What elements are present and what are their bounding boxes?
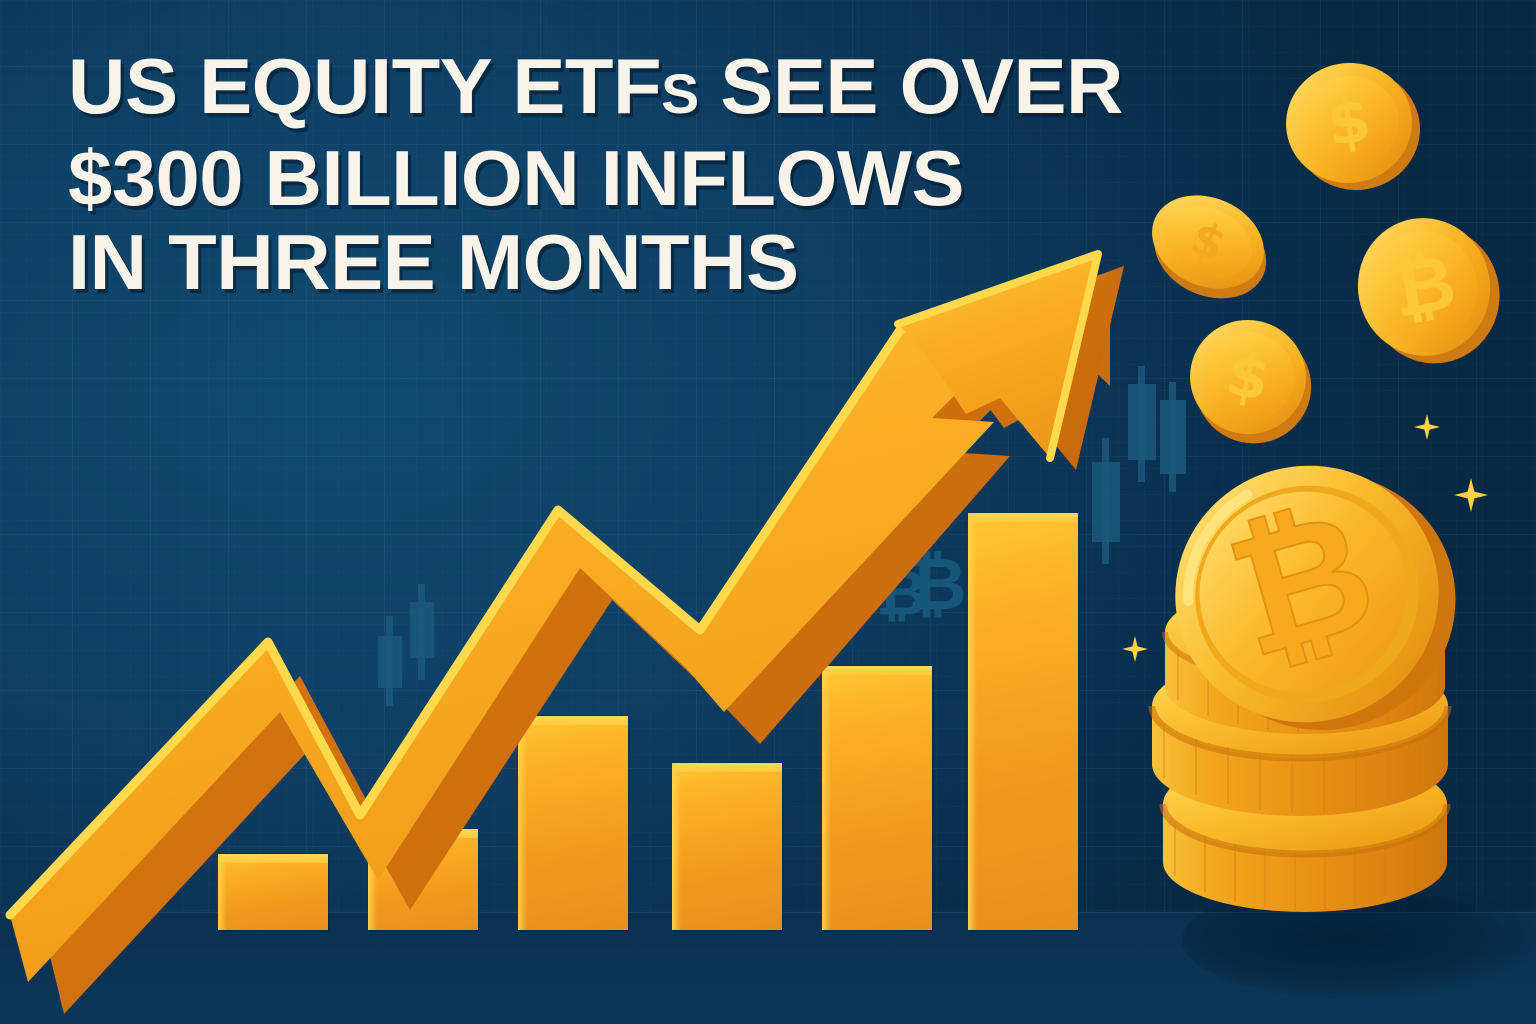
- headline-line-3: IN THREE MONTHS: [68, 220, 1221, 304]
- headline-line-1: US EQUITY ETFs SEE OVER: [68, 44, 1221, 136]
- headline-line-2: $300 BILLION INFLOWS: [68, 136, 1221, 220]
- poster-canvas: ₿ ₿: [0, 0, 1536, 1024]
- page-title: US EQUITY ETFs SEE OVER $300 BILLION INF…: [68, 44, 1221, 304]
